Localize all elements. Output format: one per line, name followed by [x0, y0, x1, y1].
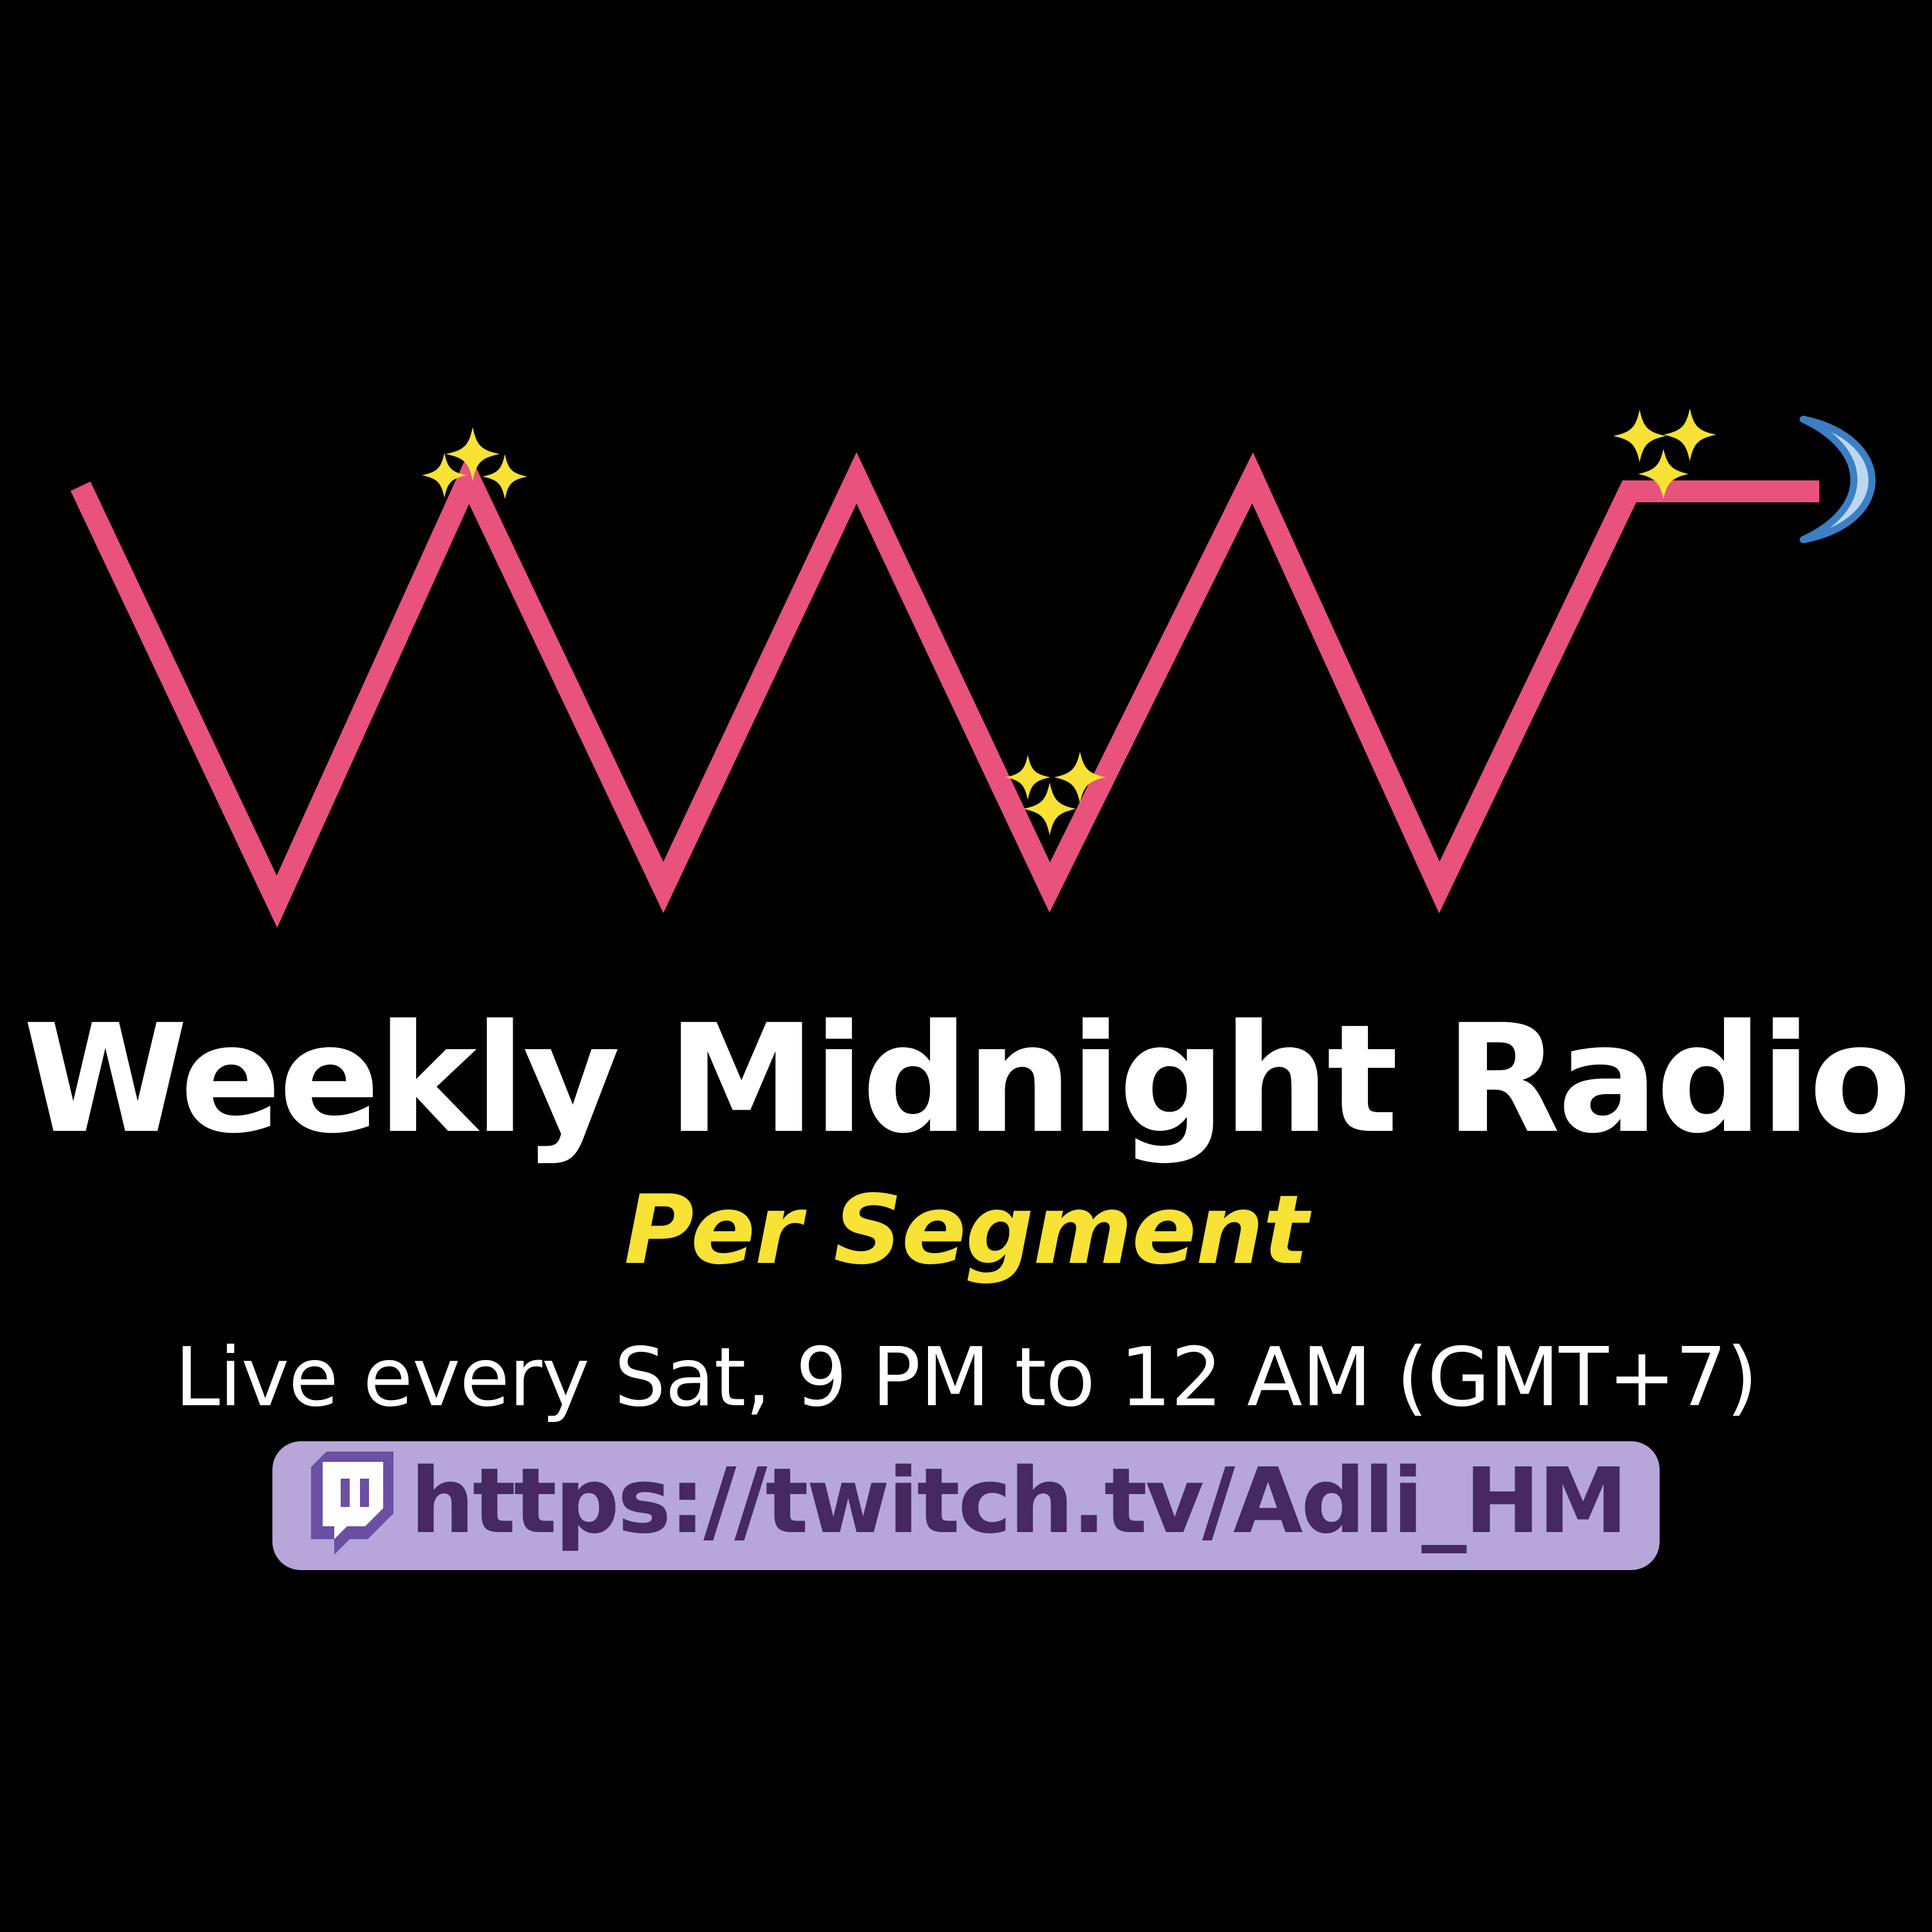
badge-container: https://twitch.tv/Adli_HM: [0, 1441, 1932, 1570]
text-block: Weekly Midnight Radio Per Segment Live e…: [0, 1005, 1932, 1570]
twitch-url-text[interactable]: https://twitch.tv/Adli_HM: [410, 1457, 1626, 1547]
twitch-icon: [297, 1452, 393, 1560]
page-subtitle: Per Segment: [0, 1182, 1932, 1278]
sparkle-icon: [1613, 410, 1666, 462]
page-title: Weekly Midnight Radio: [0, 1005, 1932, 1154]
zigzag-waveform: [80, 478, 1819, 902]
crescent-moon: [1803, 419, 1872, 540]
artwork-area: [0, 0, 1932, 966]
schedule-text: Live every Sat, 9 PM to 12 AM (GMT+7): [0, 1337, 1932, 1418]
poster-root: Weekly Midnight Radio Per Segment Live e…: [0, 0, 1932, 1932]
twitch-link-badge[interactable]: https://twitch.tv/Adli_HM: [272, 1441, 1660, 1570]
sparkle-icon: [1663, 408, 1716, 461]
sparkle-icon: [482, 454, 527, 499]
